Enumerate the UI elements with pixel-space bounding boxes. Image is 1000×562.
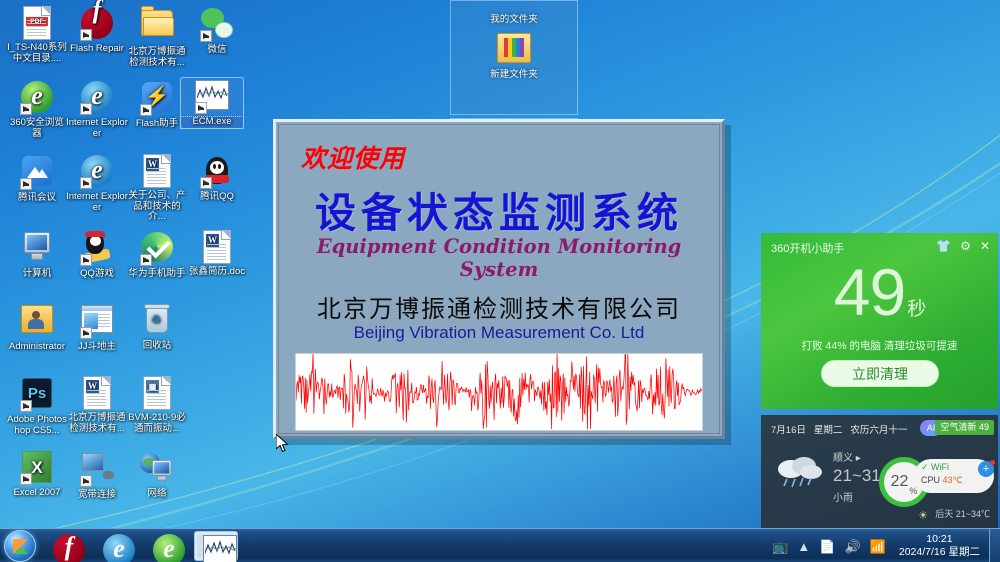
desktop-icon-13[interactable]: QQ游戏 [66,230,128,280]
desktop-icon-label: Flash助手 [126,119,188,130]
desktop-icon-label: 360安全浏览器 [6,118,68,139]
desktop-icon-label: 回收站 [126,341,188,352]
weather-lunar: 农历六月十一 [850,422,907,436]
widget-weather[interactable]: 7月16日 星期二 农历六月十一 AI 空气清新 49 顺义 ▸ 21~31℃ … [761,415,998,528]
network-signal-icon[interactable]: 📶 [870,540,886,553]
weather-date-row: 7月16日 星期二 农历六月十一 [771,422,907,436]
vibration-waveform-chart [295,353,703,431]
desktop-icon-label: 网络 [126,489,188,500]
widget-360-value: 49 [834,255,905,329]
system-tray[interactable]: 📺 ▲ 📄 🔊 📶 10:21 2024/7/16 星期二 [772,529,998,562]
recycle-bin-icon: ♻ [140,304,174,338]
folder-panel-item-label: 新建文件夹 [451,66,577,80]
desktop-icon-14[interactable]: 华为手机助手 [126,230,188,280]
desktop-icon-22[interactable]: Excel 2007 [6,450,68,499]
shortcut-arrow-icon [80,327,92,339]
splash-welcome-text: 欢迎使用 [301,139,405,175]
splash-company-cn: 北京万博振通检测技术有限公司 [279,289,719,324]
excel-icon [20,451,54,485]
ie-icon [103,533,129,559]
computer-icon [20,232,54,266]
widget-360-value-group: 49秒 [761,259,998,343]
chevron-up-icon[interactable]: ▲ [797,540,810,553]
desktop-icon-20[interactable]: W北京万博振通检测技术有... [66,376,128,434]
broadband-icon [80,453,114,487]
shortcut-arrow-icon [80,103,92,115]
desktop-icon-label: 计算机 [6,269,68,280]
shortcut-arrow-icon [20,473,32,485]
desktop-icon-21[interactable]: ▦BVM-210-9必通而振动... [126,376,188,434]
desktop-icon-label: Internet Explorer [66,192,128,213]
desktop-icon-17[interactable]: JJ斗地主 [66,302,128,353]
desktop-icon-1[interactable]: Flash Repair [66,6,128,55]
word-doc-icon: W [200,230,234,264]
tencent-meeting-icon [20,156,54,190]
desktop-icon-4[interactable]: 360安全浏览器 [6,80,68,139]
excel-doc-icon: ▦ [140,376,174,410]
shortcut-arrow-icon [80,254,92,266]
desktop-icon-7[interactable]: ECM.exe [181,78,243,128]
desktop-icon-label: 北京万博振通检测技术有... [66,413,128,434]
flash-helper-icon [140,82,174,116]
show-desktop-button[interactable] [989,529,1000,562]
desktop-icon-label: QQ游戏 [66,269,128,280]
desktop-icon-label: Administrator [6,342,68,353]
taskbar-button-internet-explorer[interactable] [94,531,138,561]
shortcut-arrow-icon [200,177,212,189]
photoshop-icon [20,378,54,412]
desktop-icon-label: 北京万博振通检测技术有... [126,47,188,68]
shortcut-arrow-icon [80,29,92,41]
ecm-icon [203,533,229,559]
desktop-icon-label: BVM-210-9必通而振动... [126,413,188,434]
desktop-icon-3[interactable]: 微信 [186,6,248,56]
browser360-icon [20,81,54,115]
start-button[interactable] [4,530,36,562]
ie-icon [80,81,114,115]
desktop-icon-label: 腾讯QQ [186,192,248,203]
desktop-icon-24[interactable]: 网络 [126,450,188,500]
qq-game-icon [80,232,114,266]
flash-icon [80,7,114,41]
desktop-icon-label: ECM.exe [181,117,243,128]
gear-icon[interactable]: ⚙ [960,239,971,253]
mouse-cursor [276,434,289,453]
jj-game-icon [80,305,114,339]
taskbar-button-flash-repair[interactable] [44,531,88,561]
rain-cloud-icon [773,453,825,489]
shortcut-arrow-icon [200,30,212,42]
desktop-icon-label: 微信 [186,45,248,56]
pdf-doc-icon: PDF [20,6,54,40]
desktop-icon-9[interactable]: Internet Explorer [66,154,128,213]
add-widget-button[interactable]: + [978,461,994,477]
huawei-icon [140,232,174,266]
flash-icon [53,533,79,559]
air-quality-badge: 空气清新 49 [935,420,994,435]
word-doc-icon: W [80,376,114,410]
desktop-icon-label: 张鑫简历.doc [186,267,248,278]
ie-icon [80,155,114,189]
widget-360-title: 360开机小助手 [771,240,844,256]
folder-icon[interactable] [497,33,531,63]
shortcut-arrow-icon [80,177,92,189]
desktop-icon-grid: PDFI_TS-N40系列中文目录....Flash Repair北京万博振通检… [0,2,248,526]
desktop-icon-8[interactable]: 腾讯会议 [6,154,68,204]
windows-logo-icon [13,539,29,554]
desktop-icon-23[interactable]: 宽带连接 [66,450,128,501]
shortcut-arrow-icon [20,400,32,412]
desktop-icon-10[interactable]: W关于公司、产品和技术的介... [126,154,188,223]
desktop-icon-6[interactable]: Flash助手 [126,80,188,130]
desktop-icon-label: Flash Repair [66,44,128,55]
taskbar-button-browser-360[interactable] [144,531,188,561]
desktop-icon-label: I_TS-N40系列中文目录.... [6,43,68,64]
user-folder-icon [20,305,54,339]
volume-icon[interactable]: 🔊 [844,540,860,553]
browser360-icon [153,533,179,559]
weather-tomorrow: 后天 21~34℃ [935,507,990,520]
close-icon[interactable]: ✕ [980,239,990,253]
weather-weekday: 星期二 [814,422,843,436]
widget-360-unit: 秒 [907,299,925,320]
desktop-icon-12[interactable]: 计算机 [6,230,68,280]
shortcut-arrow-icon [195,102,207,114]
clock-time: 10:21 [899,533,980,546]
taskbar[interactable]: 📺 ▲ 📄 🔊 📶 10:21 2024/7/16 星期二 [0,528,1000,562]
shortcut-arrow-icon [140,254,152,266]
qq-icon [200,155,234,189]
taskbar-clock[interactable]: 10:21 2024/7/16 星期二 [899,533,980,559]
sun-icon: ☀ [918,509,928,522]
desktop-folder-panel[interactable]: 我的文件夹 新建文件夹 [450,0,578,115]
network-icon [140,452,174,486]
splash-title: 设备状态监测系统 [279,179,719,239]
ecm-icon [195,80,229,114]
desktop-icon-5[interactable]: Internet Explorer [66,80,128,139]
taskbar-button-ecm-app[interactable] [194,531,238,561]
desktop-icon-label: Adobe Photoshop CS5... [6,415,68,436]
media-icon[interactable]: 📺 [772,540,788,553]
weather-date: 7月16日 [771,422,806,436]
widget-360-actions: 👕 ⚙ ✕ [936,239,990,253]
clock-date: 2024/7/16 星期二 [899,546,980,559]
shortcut-arrow-icon [20,103,32,115]
shortcut-arrow-icon [140,104,152,116]
desktop-icon-label: JJ斗地主 [66,342,128,353]
gauge-value: 22 [891,473,909,491]
action-center-icon[interactable]: 📄 [819,540,835,553]
wechat-icon [200,8,234,42]
desktop-icon-18[interactable]: ♻回收站 [126,302,188,352]
splash-subtitle: Equipment Condition Monitoring System [279,235,719,281]
desktop-icon-label: Excel 2007 [6,488,68,499]
desktop-icon-2[interactable]: 北京万博振通检测技术有... [126,6,188,68]
folder-icon [140,10,174,44]
desktop-icon-label: Internet Explorer [66,118,128,139]
desktop-icon-15[interactable]: W张鑫简历.doc [186,230,248,278]
shortcut-arrow-icon [80,475,92,487]
word-doc-icon: W [140,154,174,188]
desktop-icon-16[interactable]: Administrator [6,302,68,353]
desktop-icon-0[interactable]: PDFI_TS-N40系列中文目录.... [6,6,68,64]
splash-inner: 欢迎使用 设备状态监测系统 Equipment Condition Monito… [278,124,720,434]
splash-window[interactable]: 欢迎使用 设备状态监测系统 Equipment Condition Monito… [273,119,725,439]
splash-company-en: Beijing Vibration Measurement Co. Ltd [279,323,719,343]
gauge-unit: % [909,486,917,496]
shirt-icon[interactable]: 👕 [936,239,951,253]
desktop-icon-11[interactable]: 腾讯QQ [186,154,248,203]
desktop-icon-label: 腾讯会议 [6,193,68,204]
desktop-icon-19[interactable]: Adobe Photoshop CS5... [6,376,68,436]
shortcut-arrow-icon [20,178,32,190]
desktop-icon-label: 宽带连接 [66,490,128,501]
desktop-icon-label: 华为手机助手 [126,269,188,280]
desktop-icon-label: 关于公司、产品和技术的介... [126,191,188,223]
widget-360-description: 打败 44% 的电脑 清理垃圾可提速 [761,338,998,353]
widget-360-boot-assistant[interactable]: 360开机小助手 👕 ⚙ ✕ 49秒 打败 44% 的电脑 清理垃圾可提速 立即… [761,233,998,409]
clean-now-button[interactable]: 立即清理 [821,360,939,387]
folder-panel-title: 我的文件夹 [451,11,577,25]
